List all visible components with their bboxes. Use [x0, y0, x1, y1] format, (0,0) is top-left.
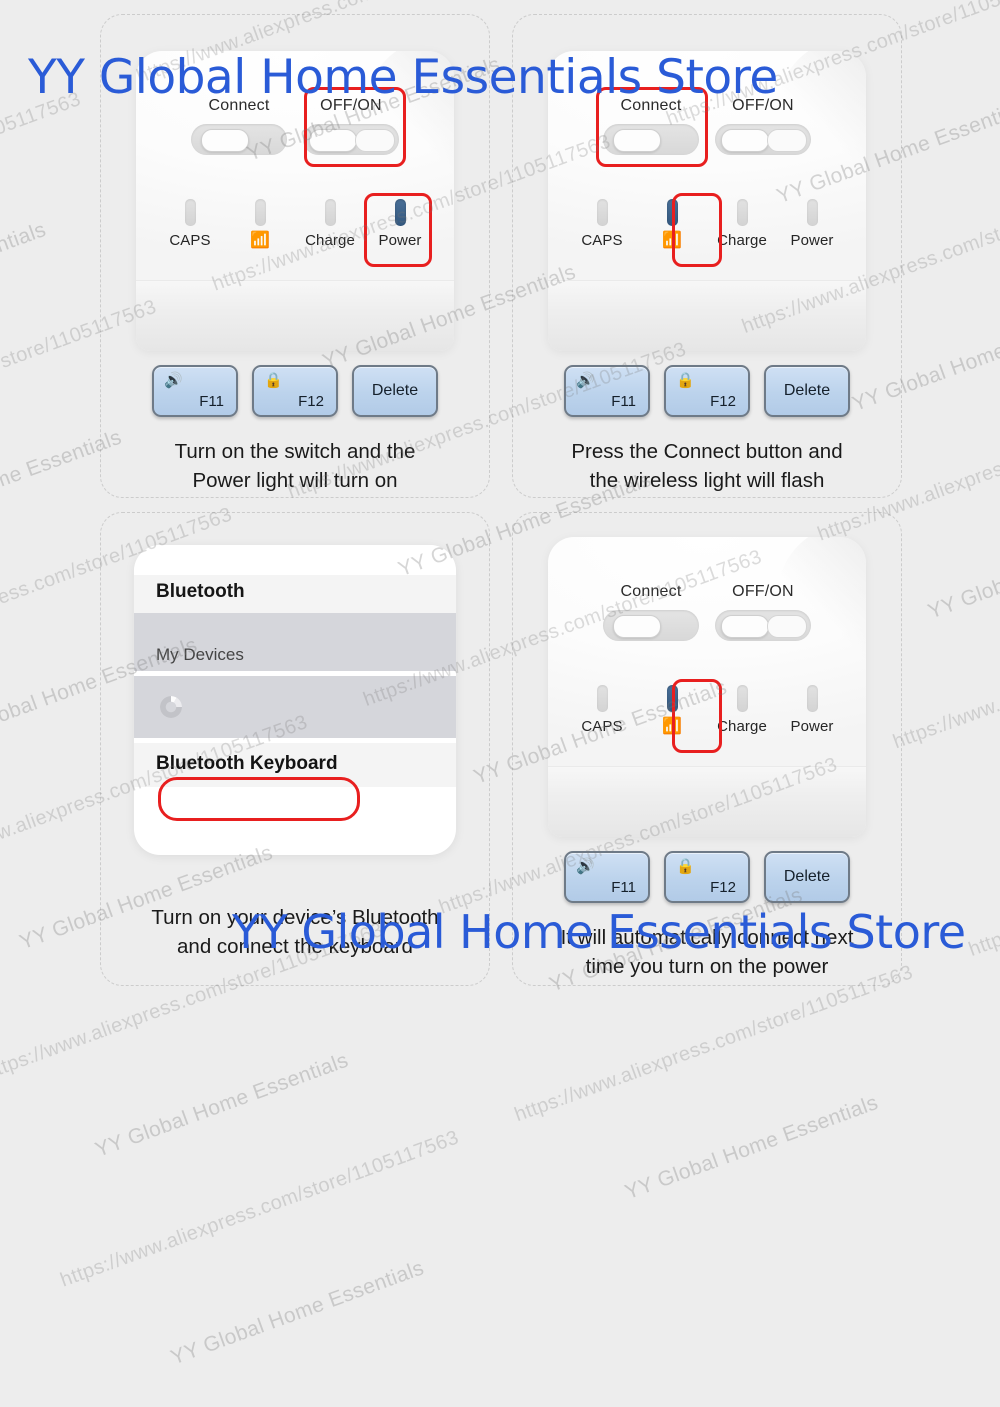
offon-switch-cell[interactable]: OFF/ON	[709, 583, 817, 641]
wifi-icon: 📶	[662, 233, 682, 249]
caps-led	[597, 685, 608, 712]
wifi-icon: 📶	[662, 719, 682, 735]
store-banner-bottom: YY Global Home Essentials Store	[232, 905, 966, 959]
watermark-brand: YY Global Home Essentials	[622, 1091, 882, 1205]
key-f11-label: F11	[611, 879, 636, 896]
switch-row: Connect OFF/ON	[548, 97, 866, 155]
charge-led-label: Charge	[708, 718, 776, 735]
bluetooth-keyboard-label: Bluetooth Keyboard	[156, 753, 338, 774]
key-row: 🔊 F11 🔒 F12 Delete	[564, 851, 850, 903]
charge-led	[325, 199, 336, 226]
lock-icon: 🔒	[264, 373, 283, 388]
key-delete[interactable]: Delete	[352, 365, 438, 417]
bluetooth-title: Bluetooth	[134, 575, 456, 613]
charge-led-cell: Charge	[296, 199, 364, 249]
my-devices-label: My Devices	[156, 645, 244, 665]
volume-up-icon: 🔊	[576, 373, 595, 388]
wireless-led	[667, 199, 678, 226]
wireless-led	[255, 199, 266, 226]
charge-led-label: Charge	[708, 232, 776, 249]
power-led-label: Power	[778, 718, 846, 735]
wifi-icon: 📶	[250, 233, 270, 249]
offon-switch-cell[interactable]: OFF/ON	[709, 97, 817, 155]
watermark-brand: YY Global Home Essentials	[168, 1256, 428, 1370]
charge-led	[737, 685, 748, 712]
connect-switch-cell[interactable]: Connect	[597, 97, 705, 155]
caps-led-label: CAPS	[568, 718, 636, 735]
led-row: CAPS 📶 Charge Power	[548, 685, 866, 735]
key-f11[interactable]: 🔊 F11	[152, 365, 238, 417]
offon-knob	[309, 129, 357, 152]
caps-led-cell: CAPS	[568, 199, 636, 249]
key-f11-label: F11	[611, 393, 636, 410]
power-led-cell: Power	[366, 199, 434, 249]
connect-switch-label: Connect	[597, 583, 705, 601]
bluetooth-keyboard-entry[interactable]: Bluetooth Keyboard	[134, 743, 456, 787]
caps-led-label: CAPS	[568, 232, 636, 249]
screen-top-pad	[134, 545, 456, 575]
charge-led	[737, 199, 748, 226]
caps-led	[597, 199, 608, 226]
volume-up-icon: 🔊	[576, 859, 595, 874]
caps-led-label: CAPS	[156, 232, 224, 249]
bluetooth-settings-screenshot: Bluetooth My Devices Bluetooth Keyboard	[134, 545, 456, 855]
key-delete-label: Delete	[354, 382, 436, 400]
my-devices-section: My Devices	[134, 613, 456, 671]
key-f12[interactable]: 🔒 F12	[664, 365, 750, 417]
store-banner-top: YY Global Home Essentials Store	[28, 50, 778, 105]
wireless-led	[667, 685, 678, 712]
watermark-url: https://www.aliexpress.com/store/1105117…	[57, 1126, 462, 1292]
key-f11[interactable]: 🔊 F11	[564, 851, 650, 903]
wireless-led-label: 📶	[638, 718, 706, 735]
spinner-icon	[160, 696, 182, 718]
connect-knob	[613, 129, 661, 152]
key-f12[interactable]: 🔒 F12	[252, 365, 338, 417]
lock-icon: 🔒	[676, 373, 695, 388]
charge-led-cell: Charge	[708, 685, 776, 735]
key-f12-label: F12	[298, 393, 324, 410]
key-f11[interactable]: 🔊 F11	[564, 365, 650, 417]
power-led-label: Power	[778, 232, 846, 249]
key-f11-label: F11	[199, 393, 224, 410]
panel-2-caption: Press the Connect button and the wireles…	[522, 437, 892, 495]
device-lower-band	[136, 280, 454, 351]
switch-row: Connect OFF/ON	[548, 583, 866, 641]
offon-switch-label: OFF/ON	[709, 583, 817, 601]
connect-switch-cell[interactable]: Connect	[185, 97, 293, 155]
offon-knob	[721, 129, 769, 152]
key-row: 🔊 F11 🔒 F12 Delete	[564, 365, 850, 417]
key-f12-label: F12	[710, 879, 736, 896]
device-lower-band	[548, 766, 866, 837]
caption-line: Turn on the switch and the	[125, 437, 465, 466]
wireless-led-label: 📶	[638, 232, 706, 249]
lock-icon: 🔒	[676, 859, 695, 874]
caps-led-cell: CAPS	[568, 685, 636, 735]
caps-led-cell: CAPS	[156, 199, 224, 249]
power-led-cell: Power	[778, 199, 846, 249]
offon-switch-cell[interactable]: OFF/ON	[297, 97, 405, 155]
key-row: 🔊 F11 🔒 F12 Delete	[152, 365, 438, 417]
power-led-cell: Power	[778, 685, 846, 735]
watermark-brand: YY Global Home Essentials	[92, 1049, 352, 1163]
led-row: CAPS 📶 Charge Power	[136, 199, 454, 249]
power-led	[395, 199, 406, 226]
wireless-led-label: 📶	[226, 232, 294, 249]
power-led-label: Power	[366, 232, 434, 249]
offon-knob	[721, 615, 769, 638]
caps-led	[185, 199, 196, 226]
device-lower-band	[548, 280, 866, 351]
caption-line: the wireless light will flash	[522, 466, 892, 495]
instruction-grid: Connect OFF/ON CAPS 📶	[0, 0, 1000, 1000]
offon-switch[interactable]	[715, 610, 811, 641]
charge-led-cell: Charge	[708, 199, 776, 249]
key-delete-label: Delete	[766, 382, 848, 400]
power-led	[807, 685, 818, 712]
connect-switch-cell[interactable]: Connect	[597, 583, 705, 641]
screen-bottom-pad	[134, 787, 456, 827]
key-delete-label: Delete	[766, 868, 848, 886]
key-delete[interactable]: Delete	[764, 851, 850, 903]
key-delete[interactable]: Delete	[764, 365, 850, 417]
connect-button[interactable]	[191, 124, 287, 155]
wireless-led-cell: 📶	[638, 685, 706, 735]
caption-line: Power light will turn on	[125, 466, 465, 495]
power-led	[807, 199, 818, 226]
panel-1-caption: Turn on the switch and the Power light w…	[125, 437, 465, 495]
offon-switch[interactable]	[303, 124, 399, 155]
scanning-section	[134, 676, 456, 738]
wireless-led-cell: 📶	[226, 199, 294, 249]
caption-line: Press the Connect button and	[522, 437, 892, 466]
key-f12[interactable]: 🔒 F12	[664, 851, 750, 903]
connect-button[interactable]	[603, 124, 699, 155]
key-f12-label: F12	[710, 393, 736, 410]
keyboard-control-panel-photo: Connect OFF/ON CAPS 📶	[548, 537, 866, 837]
connect-knob	[613, 615, 661, 638]
led-row: CAPS 📶 Charge Power	[548, 199, 866, 249]
wireless-led-cell: 📶	[638, 199, 706, 249]
connect-knob	[201, 129, 249, 152]
volume-up-icon: 🔊	[164, 373, 183, 388]
offon-switch[interactable]	[715, 124, 811, 155]
charge-led-label: Charge	[296, 232, 364, 249]
connect-button[interactable]	[603, 610, 699, 641]
switch-row: Connect OFF/ON	[136, 97, 454, 155]
